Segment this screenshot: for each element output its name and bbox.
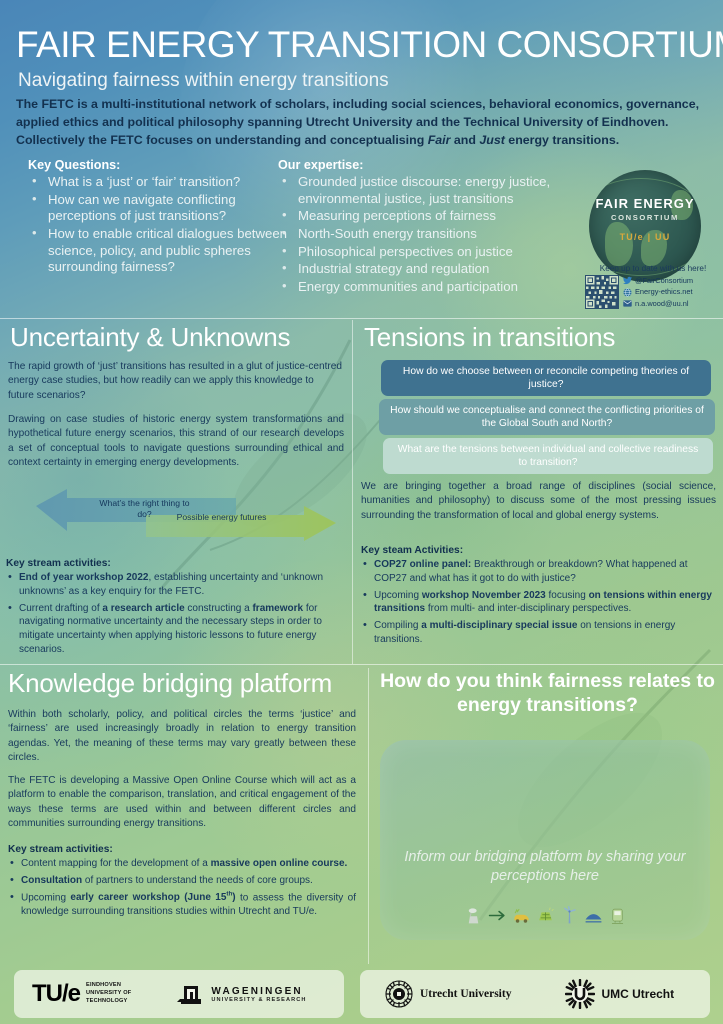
section-divider-middle [0,664,723,665]
list-item: Upcoming early career workshop (June 15t… [8,891,356,919]
globe-icon [623,288,632,297]
solar-panel-icon [536,906,555,925]
keep-up-to-date-label: Keep up to date with us here! [585,264,721,273]
section-divider-top [0,318,723,319]
activity-bold: a multi-disciplinary special issue [421,620,577,631]
umc-utrecht-label: UMC Utrecht [601,987,674,1001]
tue-logo: TU/e EINDHOVEN UNIVERSITY OF TECHNOLOGY [32,982,131,1006]
tension-question-box: How should we conceptualise and connect … [379,399,715,435]
twitter-handle: @FairConsortium [635,275,693,286]
key-questions-block: Key Questions: What is a ‘just’ or ‘fair… [28,158,290,277]
umc-sun-icon [565,979,595,1009]
key-questions-list: What is a ‘just’ or ‘fair’ transition? H… [28,174,290,276]
website-row[interactable]: Energy-ethics.net [623,286,693,297]
page-subtitle: Navigating fairness within energy transi… [18,70,389,92]
twitter-icon [623,276,632,285]
key-questions-heading: Key Questions: [28,158,290,172]
tension-question-box: What are the tensions between individual… [383,438,713,474]
wave-energy-icon [584,906,603,925]
activity-pre: Content mapping for the development of a [21,858,211,869]
wageningen-logo: WAGENINGEN UNIVERSITY & RESEARCH [177,981,306,1007]
list-item: How can we navigate conflicting percepti… [28,192,290,225]
twitter-handle-row[interactable]: @FairConsortium [623,275,693,286]
fairness-caption: Inform our bridging platform by sharing … [380,848,710,886]
list-item: North-South energy transitions [278,226,578,243]
bridge-paragraph-1: Within both scholarly, policy, and polit… [8,708,356,765]
socials-block: Keep up to date with us here! [585,264,721,309]
page-title: FAIR ENERGY TRANSITION CONSORTIUM [16,24,723,66]
intro-emph-fair: Fair [428,133,451,147]
activity-rest: from multi- and inter-disciplinary persp… [425,603,631,614]
poster-header: FAIR ENERGY TRANSITION CONSORTIUM Naviga… [0,0,723,318]
activity-pre: Upcoming [374,590,422,601]
wind-turbine-icon [560,906,579,925]
website-url: Energy-ethics.net [635,286,693,297]
list-item: Upcoming workshop November 2023 focusing… [361,589,716,617]
activity-bold: early career workshop (June 15th) [70,892,235,903]
list-item: COP27 online panel: Breakthrough or brea… [361,558,716,586]
partner-pill-right: Utrecht University UMC Utrecht [360,970,710,1018]
activity-bold: End of year workshop 2022 [19,572,149,583]
envelope-icon [623,299,632,308]
intro-text-b: and [450,133,479,147]
fetc-logo-line3: TU/e | UU [589,232,701,242]
activity-pre: Current drafting of [19,603,102,614]
our-expertise-block: Our expertise: Grounded justice discours… [278,158,578,296]
list-item: Industrial strategy and regulation [278,261,578,278]
tue-wordmark: TU/e [32,982,80,1006]
knowledge-bridging-section: Knowledge bridging platform Within both … [0,666,370,966]
activity-bold-text: early career workshop (June 15 [70,892,226,903]
partner-logos-footer: TU/e EINDHOVEN UNIVERSITY OF TECHNOLOGY … [0,968,723,1024]
electric-car-icon [512,906,531,925]
arrow-right-icon [488,906,507,925]
list-item: Grounded justice discourse: energy justi… [278,174,578,207]
uncertainty-paragraph-1: The rapid growth of ‘just’ transitions h… [8,360,342,403]
wageningen-text: WAGENINGEN UNIVERSITY & RESEARCH [211,986,306,1003]
uncertainty-arrow-diagram: What’s the right thing to do? Possible e… [36,487,336,549]
activity-bold: COP27 online panel: [374,559,471,570]
utrecht-university-logo: Utrecht University [384,979,511,1009]
uncertainty-title: Uncertainty & Unknowns [10,322,290,353]
tue-subline-2: UNIVERSITY OF [86,990,131,996]
fairness-response-card[interactable]: Inform our bridging platform by sharing … [380,740,710,940]
uncertainty-paragraph-2: Drawing on case studies of historic ener… [8,413,344,470]
list-item: Content mapping for the development of a… [8,857,356,871]
uncertainty-activities-heading: Key stream activities: [6,558,346,569]
activity-bold-2: framework [252,603,303,614]
utrecht-sun-icon [384,979,414,1009]
tensions-activities: Key steam Activities: COP27 online panel… [361,545,716,650]
partner-pill-left: TU/e EINDHOVEN UNIVERSITY OF TECHNOLOGY … [14,970,344,1018]
our-expertise-list: Grounded justice discourse: energy justi… [278,174,578,295]
fetc-logo-line1: FAIR ENERGY [589,196,701,211]
fetc-logo-line2: CONSORTIUM [589,213,701,222]
wageningen-line-1: WAGENINGEN [211,986,306,997]
tensions-title: Tensions in transitions [364,322,615,353]
wageningen-line-2: UNIVERSITY & RESEARCH [211,997,306,1003]
tensions-activities-heading: Key steam Activities: [361,545,716,556]
email-address: n.a.wood@uu.nl [635,298,689,309]
activity-pre: Upcoming [21,892,70,903]
list-item: Philosophical perspectives on justice [278,244,578,261]
umc-utrecht-logo: UMC Utrecht [565,979,674,1009]
qr-code-icon[interactable] [585,275,619,309]
activity-bold: a research article [102,603,184,614]
tram-icon [608,906,627,925]
arrow-right-label: Possible energy futures [169,512,274,523]
bridge-activities-heading: Key stream activities: [8,844,356,855]
activity-bold: Consultation [21,875,82,886]
wageningen-mark-icon [177,981,205,1007]
list-item: End of year workshop 2022, establishing … [6,571,346,599]
list-item: What is a ‘just’ or ‘fair’ transition? [28,174,290,191]
tue-subline-1: EINDHOVEN [86,982,121,988]
power-plant-icon [464,906,483,925]
tue-sublines: EINDHOVEN UNIVERSITY OF TECHNOLOGY [86,982,131,1006]
bridge-activities: Key stream activities: Content mapping f… [8,844,356,922]
intro-emph-just: Just [479,133,504,147]
list-item: Compiling a multi-disciplinary special i… [361,619,716,647]
list-item: How to enable critical dialogues between… [28,226,290,276]
uncertainty-activities: Key stream activities: End of year works… [6,558,346,660]
list-item: Current drafting of a research article c… [6,602,346,657]
utrecht-university-label: Utrecht University [420,988,511,1000]
activity-rest: of partners to understand the needs of c… [82,875,313,886]
activity-mid: constructing a [185,603,253,614]
tensions-section: Tensions in transitions How do we choose… [353,320,723,664]
bridge-paragraph-2: The FETC is developing a Massive Open On… [8,774,356,831]
intro-paragraph: The FETC is a multi-institutional networ… [16,96,706,150]
activity-mid: focusing [546,590,589,601]
activity-pre: Compiling [374,620,421,631]
intro-text-c: energy transitions. [505,133,619,147]
list-item: Consultation of partners to understand t… [8,874,356,888]
transition-icon-strip [380,906,710,925]
tensions-paragraph-1: We are bringing together a broad range o… [361,480,716,523]
activity-bold: workshop November 2023 [422,590,546,601]
activity-bold: massive open online course. [211,858,348,869]
fairness-participation-section: How do you think fairness relates to ene… [372,666,723,966]
poster-canvas: FAIR ENERGY TRANSITION CONSORTIUM Naviga… [0,0,723,1024]
tue-subline-3: TECHNOLOGY [86,998,127,1004]
fairness-question: How do you think fairness relates to ene… [378,670,717,718]
email-row[interactable]: n.a.wood@uu.nl [623,298,693,309]
tension-question-box: How do we choose between or reconcile co… [381,360,711,396]
list-item: Measuring perceptions of fairness [278,208,578,225]
bridge-title: Knowledge bridging platform [8,668,332,699]
our-expertise-heading: Our expertise: [278,158,578,172]
list-item: Energy communities and participation [278,279,578,296]
